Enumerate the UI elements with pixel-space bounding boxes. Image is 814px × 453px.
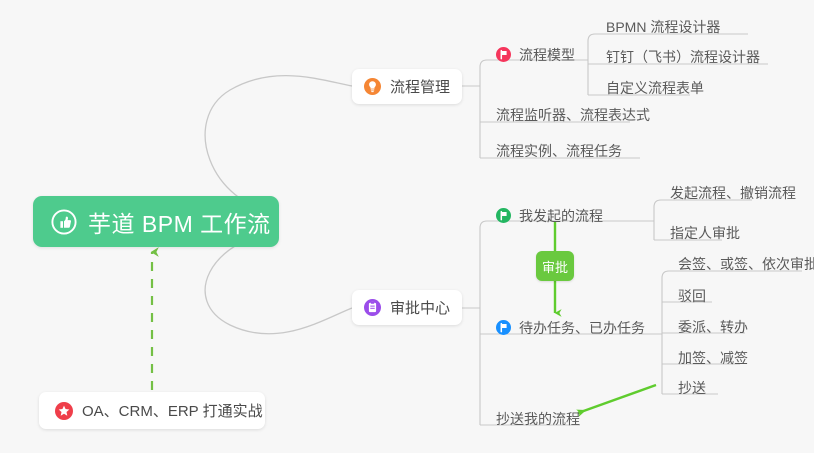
flag-icon xyxy=(496,320,511,335)
lightbulb-icon xyxy=(364,78,381,95)
node-reject-label: 驳回 xyxy=(678,289,706,303)
flag-icon xyxy=(496,208,511,223)
wire-root-to-flow-management xyxy=(205,76,352,213)
node-bpmn-designer-label: BPMN 流程设计器 xyxy=(606,20,720,34)
root-label: 芋道 BPM 工作流 xyxy=(88,205,271,239)
node-flow-model[interactable]: 流程模型 xyxy=(488,38,583,66)
approve-annotation-chip-label: 审批 xyxy=(542,257,568,276)
node-dingtalk-designer-label: 钉钉（飞书）流程设计器 xyxy=(606,50,760,64)
approve-annotation-chip[interactable]: 审批 xyxy=(536,251,574,281)
node-countersign[interactable]: 会签、或签、依次审批 xyxy=(670,247,814,275)
clipboard-icon xyxy=(364,299,381,316)
node-dingtalk-designer[interactable]: 钉钉（飞书）流程设计器 xyxy=(598,40,768,68)
node-todo-done-tasks-label: 待办任务、已办任务 xyxy=(519,321,645,335)
node-cc-label: 抄送 xyxy=(678,381,706,395)
node-add-remove-sign[interactable]: 加签、减签 xyxy=(670,341,756,369)
node-assignee-approval[interactable]: 指定人审批 xyxy=(662,216,748,244)
node-flow-instance[interactable]: 流程实例、流程任务 xyxy=(488,134,630,162)
node-cc[interactable]: 抄送 xyxy=(670,371,714,399)
arrow-cc-to-my-flows xyxy=(578,385,656,413)
flag-icon xyxy=(496,47,511,62)
node-integration-practice-label: OA、CRM、ERP 打通实战 xyxy=(82,400,263,421)
node-custom-flow-form-label: 自定义流程表单 xyxy=(606,81,704,95)
thumbs-up-icon xyxy=(51,209,77,235)
node-flow-management[interactable]: 流程管理 xyxy=(352,69,462,104)
node-cc-to-me-label: 抄送我的流程 xyxy=(496,412,580,426)
node-reject[interactable]: 驳回 xyxy=(670,279,714,307)
mindmap-canvas: 芋道 BPM 工作流 流程管理 流程模型 BPMN 流程设计器 钉钉（飞书）流程 xyxy=(0,0,814,453)
node-add-remove-sign-label: 加签、减签 xyxy=(678,351,748,365)
node-delegate-transfer-label: 委派、转办 xyxy=(678,320,748,334)
node-flow-listener-label: 流程监听器、流程表达式 xyxy=(496,108,650,122)
node-flow-management-label: 流程管理 xyxy=(390,76,450,97)
node-my-initiated-flows-label: 我发起的流程 xyxy=(519,209,603,223)
node-start-cancel-flow-label: 发起流程、撤销流程 xyxy=(670,186,796,200)
node-approval-center[interactable]: 审批中心 xyxy=(352,290,462,325)
node-assignee-approval-label: 指定人审批 xyxy=(670,226,740,240)
node-bpmn-designer[interactable]: BPMN 流程设计器 xyxy=(598,10,728,38)
node-start-cancel-flow[interactable]: 发起流程、撤销流程 xyxy=(662,176,804,204)
node-integration-practice[interactable]: OA、CRM、ERP 打通实战 xyxy=(39,392,265,429)
node-my-initiated-flows[interactable]: 我发起的流程 xyxy=(488,199,611,227)
root-node[interactable]: 芋道 BPM 工作流 xyxy=(33,196,279,247)
node-countersign-label: 会签、或签、依次审批 xyxy=(678,257,814,271)
node-custom-flow-form[interactable]: 自定义流程表单 xyxy=(598,71,712,99)
node-delegate-transfer[interactable]: 委派、转办 xyxy=(670,310,756,338)
node-approval-center-label: 审批中心 xyxy=(390,297,450,318)
node-cc-to-me[interactable]: 抄送我的流程 xyxy=(488,402,588,430)
node-flow-instance-label: 流程实例、流程任务 xyxy=(496,144,622,158)
star-icon xyxy=(55,402,73,420)
node-todo-done-tasks[interactable]: 待办任务、已办任务 xyxy=(488,311,653,339)
node-flow-model-label: 流程模型 xyxy=(519,48,575,62)
node-flow-listener[interactable]: 流程监听器、流程表达式 xyxy=(488,98,658,126)
